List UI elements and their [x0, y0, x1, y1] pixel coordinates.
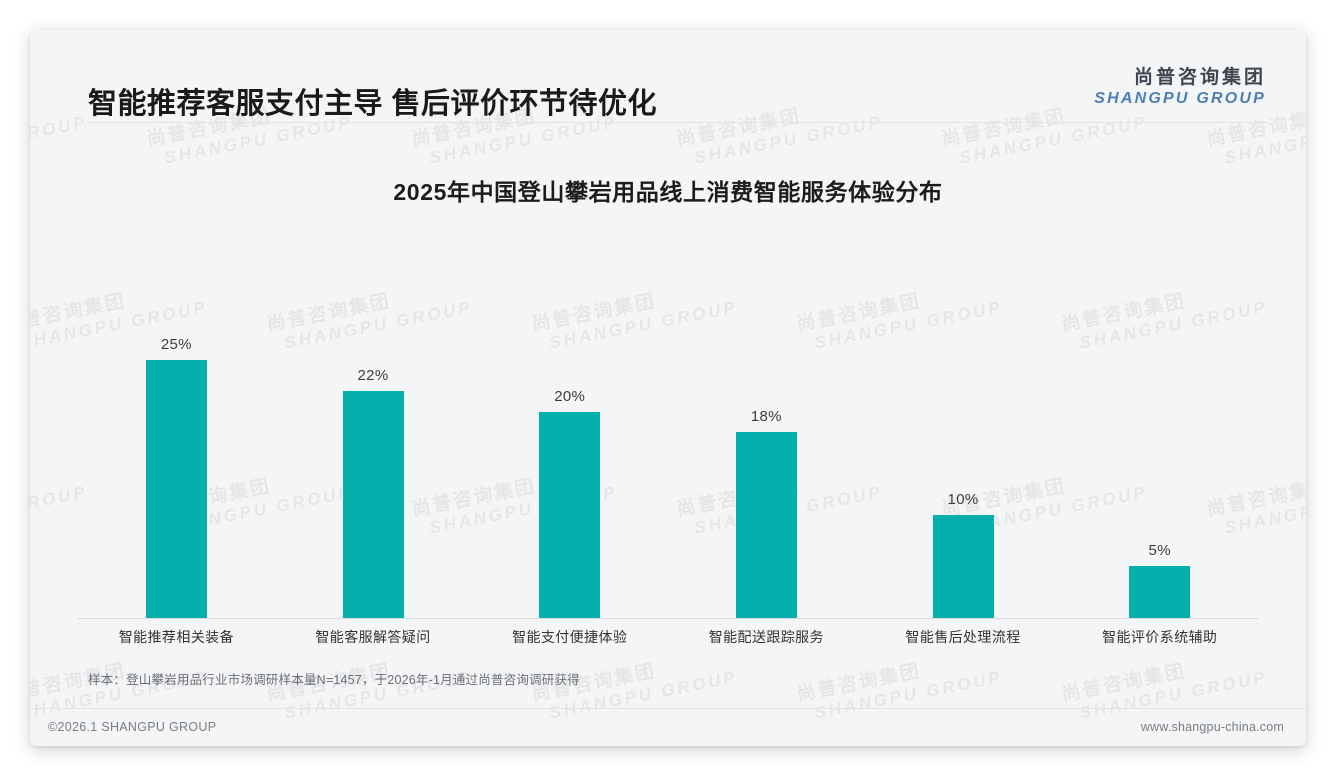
bar-rect[interactable] [736, 432, 797, 618]
slide-footer: ©2026.1 SHANGPU GROUP www.shangpu-china.… [30, 708, 1306, 746]
bar-category-label: 智能配送跟踪服务 [668, 627, 865, 647]
bar-group: 22%智能客服解答疑问 [275, 301, 472, 618]
slide-header: 智能推荐客服支付主导 售后评价环节待优化 尚普咨询集团 SHANGPU GROU… [30, 30, 1306, 123]
website-link[interactable]: www.shangpu-china.com [1141, 720, 1284, 734]
bar-group: 5%智能评价系统辅助 [1061, 301, 1258, 618]
bar-rect[interactable] [1129, 566, 1190, 618]
bar-group: 18%智能配送跟踪服务 [668, 301, 865, 618]
bar-value-label: 10% [948, 491, 979, 508]
bar-chart-plot: 25%智能推荐相关装备22%智能客服解答疑问20%智能支付便捷体验18%智能配送… [78, 271, 1258, 649]
bar-group: 10%智能售后处理流程 [865, 301, 1062, 618]
logo-chinese-text: 尚普咨询集团 [1094, 62, 1266, 89]
bar-rect[interactable] [933, 515, 994, 618]
footer-divider [30, 708, 1306, 709]
bar-rect[interactable] [539, 412, 600, 618]
bar-series: 25%智能推荐相关装备22%智能客服解答疑问20%智能支付便捷体验18%智能配送… [78, 301, 1258, 618]
chart-title: 2025年中国登山攀岩用品线上消费智能服务体验分布 [30, 173, 1306, 207]
copyright-text: ©2026.1 SHANGPU GROUP [48, 720, 216, 734]
logo-english-text: SHANGPU GROUP [1094, 90, 1266, 108]
bar-group: 25%智能推荐相关装备 [78, 301, 275, 618]
page-title: 智能推荐客服支付主导 售后评价环节待优化 [88, 80, 657, 122]
sample-footnote: 样本：登山攀岩用品行业市场调研样本量N=1457，于2026年-1月通过尚普咨询… [88, 669, 580, 688]
bar-rect[interactable] [343, 391, 404, 618]
bar-category-label: 智能推荐相关装备 [78, 627, 275, 647]
bar-category-label: 智能评价系统辅助 [1061, 627, 1258, 647]
bar-value-label: 22% [358, 367, 389, 384]
bar-value-label: 25% [161, 336, 192, 353]
bar-value-label: 5% [1149, 542, 1171, 559]
brand-logo: 尚普咨询集团 SHANGPU GROUP [1094, 62, 1266, 108]
bar-value-label: 18% [751, 408, 782, 425]
chart-section: 2025年中国登山攀岩用品线上消费智能服务体验分布 25%智能推荐相关装备22%… [30, 123, 1306, 746]
slide-card: 尚普咨询集团SHANGPU GROUP尚普咨询集团SHANGPU GROUP尚普… [30, 30, 1306, 746]
bar-rect[interactable] [146, 360, 207, 618]
header-divider [88, 122, 1268, 123]
bar-group: 20%智能支付便捷体验 [471, 301, 668, 618]
bar-value-label: 20% [554, 388, 585, 405]
bar-category-label: 智能支付便捷体验 [471, 627, 668, 647]
bar-category-label: 智能售后处理流程 [865, 627, 1062, 647]
bar-category-label: 智能客服解答疑问 [275, 627, 472, 647]
x-axis-line [78, 618, 1258, 619]
